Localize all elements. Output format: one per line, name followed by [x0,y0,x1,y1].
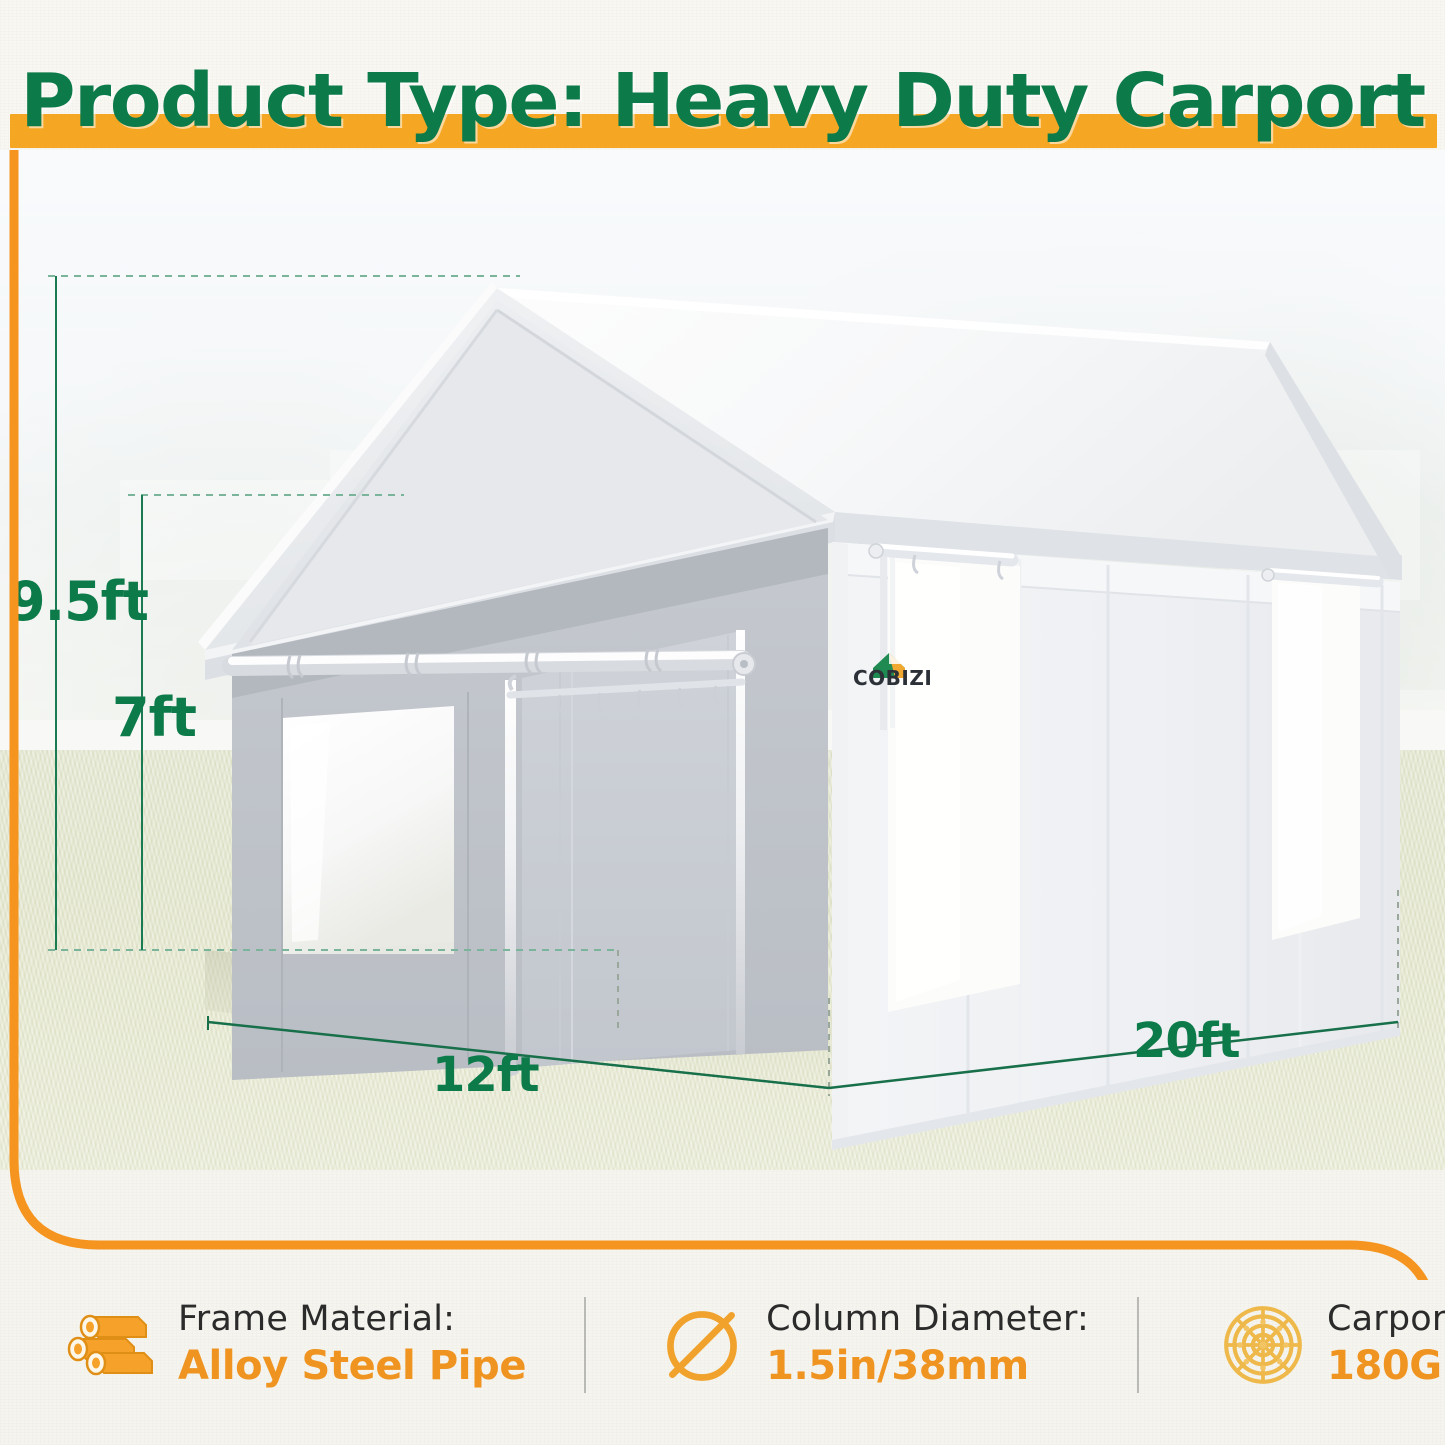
title-text: Product Type: Heavy Duty Carport [20,58,1424,144]
product-photo: COBIZI 9.5ft 7ft 12ft 20ft [0,150,1445,1170]
page-title: Product Type: Heavy Duty Carport [0,46,1445,156]
feature-label: Carport Cover Material: [1327,1300,1445,1339]
dimension-label-width: 12ft [432,1047,539,1103]
steel-pipes-icon [62,1305,166,1385]
dimension-label-depth: 20ft [1133,1013,1240,1069]
feature-divider [584,1297,586,1393]
feature-item-column-diameter: Column Diameter: 1.5in/38mm [650,1286,1089,1404]
feature-label: Column Diameter: [766,1300,1089,1339]
feature-label: Frame Material: [178,1300,526,1339]
woven-fabric-knot-icon [1211,1299,1315,1391]
feature-value: 1.5in/38mm [766,1342,1089,1390]
dimension-label-height-side: 7ft [112,686,196,749]
feature-value: 180G Coating PE [1327,1342,1445,1390]
feature-divider [1137,1297,1139,1393]
feature-item-frame-material: Frame Material: Alloy Steel Pipe [62,1286,526,1404]
diameter-symbol-icon [650,1302,754,1388]
feature-strip: Frame Material: Alloy Steel Pipe Column … [0,1270,1445,1420]
feature-item-cover-material: Carport Cover Material: 180G Coating PE [1211,1286,1445,1404]
feature-value: Alloy Steel Pipe [178,1342,526,1390]
dimension-label-height-peak: 9.5ft [8,570,148,633]
